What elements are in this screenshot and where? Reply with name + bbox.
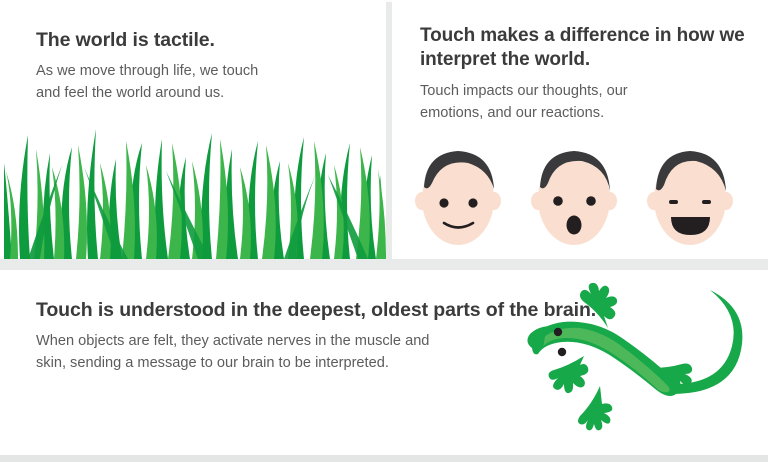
body-line: and feel the world around us. [36, 83, 368, 105]
body-line: emotions, and our reactions. [420, 103, 754, 125]
panel-brain: Touch is understood in the deepest, olde… [0, 270, 768, 455]
grass-illustration [0, 119, 386, 259]
face-surprised [531, 151, 617, 245]
face-neutral-smile [415, 151, 501, 245]
gecko-front-foot-right [580, 283, 617, 328]
panel-tactile-text: The world is tactile. As we move through… [36, 28, 368, 105]
infographic-page: The world is tactile. As we move through… [0, 0, 768, 462]
gecko-illustration [522, 282, 758, 432]
headline-line: Touch is understood in the [36, 299, 282, 321]
panel-tactile-body: As we move through life, we touch and fe… [36, 61, 368, 105]
bottom-shadow-strip [0, 455, 768, 462]
gecko-eye-lower [558, 348, 566, 356]
gecko-hind-foot-left [578, 386, 612, 430]
panel-tactile-headline: The world is tactile. [36, 28, 368, 53]
panel-difference: Touch makes a difference in how we inter… [392, 0, 768, 259]
body-line: As we move through life, we touch [36, 61, 368, 83]
face-happy [647, 151, 733, 245]
gecko-front-foot-left [549, 356, 589, 393]
panel-tactile: The world is tactile. As we move through… [0, 0, 386, 259]
panel-difference-headline: Touch makes a difference in how we inter… [420, 24, 754, 73]
headline-line: Touch makes a difference in [420, 25, 671, 46]
panel-difference-body: Touch impacts our thoughts, our emotions… [420, 81, 754, 125]
panel-difference-text: Touch makes a difference in how we inter… [420, 24, 754, 124]
three-faces-illustration [406, 143, 754, 251]
body-line: Touch impacts our thoughts, our [420, 81, 754, 103]
gecko-eye-upper [554, 328, 562, 336]
